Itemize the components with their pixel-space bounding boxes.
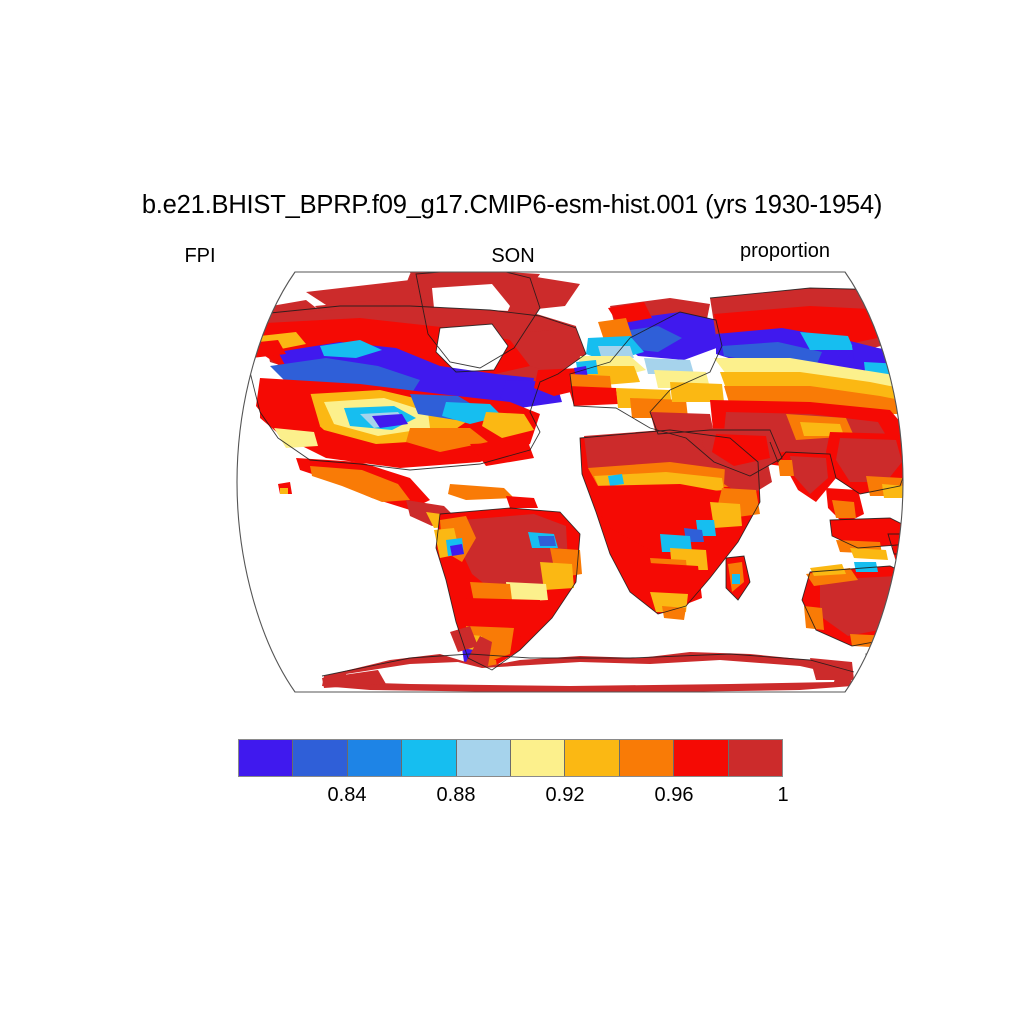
units-label: proportion: [585, 240, 985, 262]
figure-canvas: b.e21.BHIST_BPRP.f09_g17.CMIP6-esm-hist.…: [0, 0, 1024, 1024]
region-australia: [802, 562, 926, 674]
world-map: [110, 262, 926, 702]
colorbar-bin-8[interactable]: [620, 740, 674, 776]
region-south-america: [434, 508, 582, 674]
colorbar-bin-2[interactable]: [293, 740, 347, 776]
colorbar-tick-labels: 0.84 0.88 0.92 0.96 1: [238, 783, 783, 809]
colorbar-bin-1[interactable]: [239, 740, 293, 776]
colorbar-bin-6[interactable]: [511, 740, 565, 776]
colorbar-bin-9[interactable]: [674, 740, 728, 776]
colorbar-bin-4[interactable]: [402, 740, 456, 776]
colorbar-tick-2: 0.92: [546, 783, 585, 807]
region-antarctica: [322, 626, 854, 692]
colorbar-tick-4: 1: [777, 783, 788, 807]
colorbar-tick-3: 0.96: [655, 783, 694, 807]
colorbar-tick-1: 0.88: [437, 783, 476, 807]
colorbar-bin-5[interactable]: [457, 740, 511, 776]
colorbar-bin-10[interactable]: [729, 740, 782, 776]
colorbar-tick-0: 0.84: [328, 783, 367, 807]
region-mexico-central-america: [296, 458, 462, 528]
map-svg: [110, 262, 926, 702]
map-data-layer: [240, 268, 926, 692]
region-maritime-southeast-asia: [830, 518, 926, 562]
region-europe: [568, 298, 724, 434]
colorbar-bin-7[interactable]: [565, 740, 619, 776]
page-title: b.e21.BHIST_BPRP.f09_g17.CMIP6-esm-hist.…: [0, 190, 1024, 220]
colorbar[interactable]: [238, 739, 783, 777]
colorbar-bin-3[interactable]: [348, 740, 402, 776]
